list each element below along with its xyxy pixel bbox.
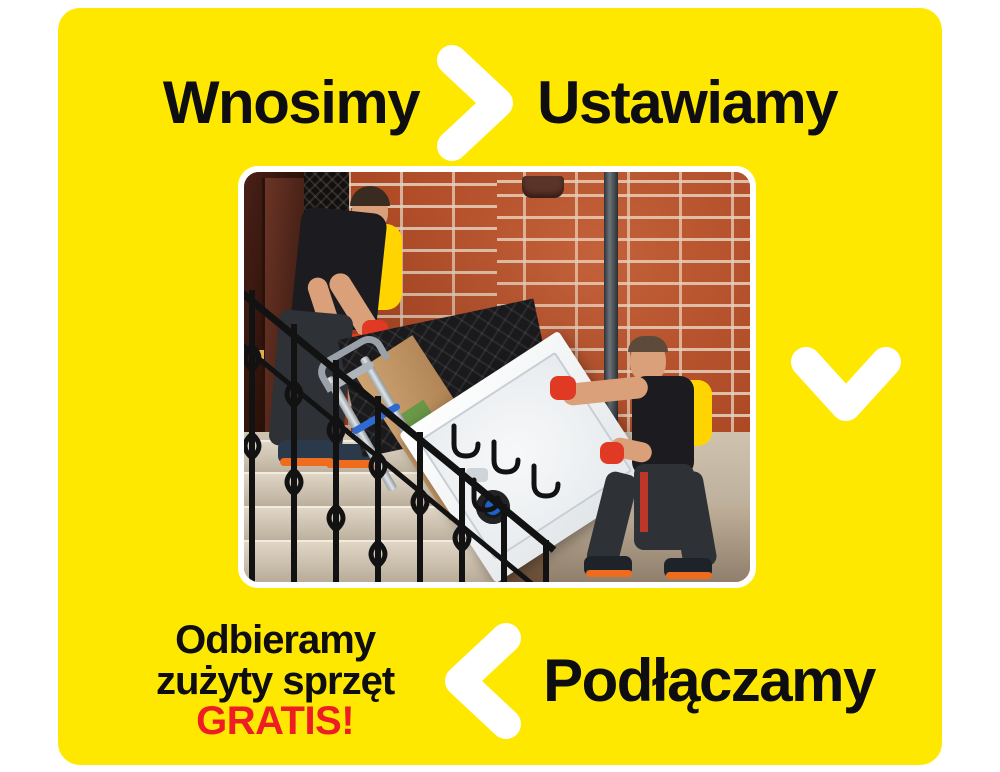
steps-row-bottom: Odbieramy zużyty sprzęt GRATIS! Podłącza…	[58, 606, 942, 756]
step-label-wnosimy: Wnosimy	[163, 73, 419, 133]
chevron-right-icon	[419, 42, 537, 164]
chevron-down-icon	[786, 340, 906, 440]
promo-banner: Wnosimy Ustawiamy	[58, 8, 942, 765]
hooks	[440, 420, 590, 530]
step-label-odbieramy-line1: Odbieramy	[125, 620, 425, 661]
step-label-ustawiamy: Ustawiamy	[537, 73, 837, 133]
wall-vent	[522, 176, 564, 198]
chevron-left-icon	[425, 620, 543, 742]
photo-frame	[238, 166, 756, 588]
steps-row-top: Wnosimy Ustawiamy	[58, 48, 942, 158]
step-label-podlaczamy: Podłączamy	[543, 651, 875, 711]
delivery-photo	[244, 172, 750, 582]
step-label-odbieramy-block: Odbieramy zużyty sprzęt GRATIS!	[125, 620, 425, 742]
gratis-badge: GRATIS!	[125, 701, 425, 742]
step-label-odbieramy-line2: zużyty sprzęt	[125, 661, 425, 702]
